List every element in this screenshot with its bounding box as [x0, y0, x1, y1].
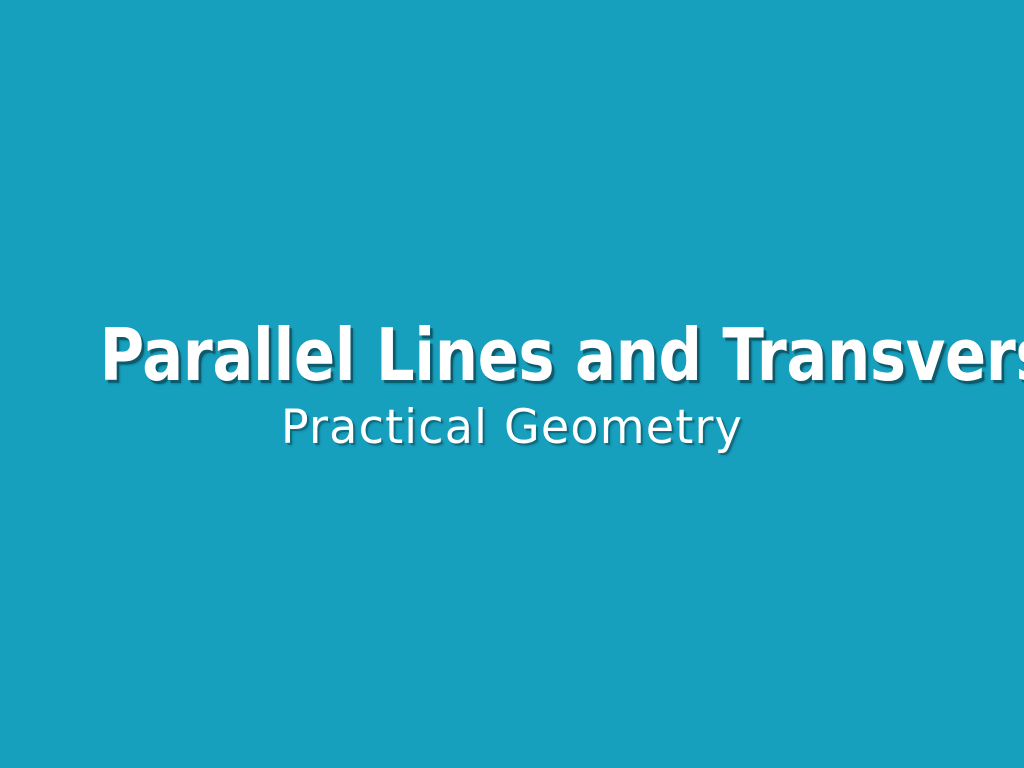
presentation-slide: Parallel Lines and Transversals Practica…	[0, 0, 1024, 768]
slide-subtitle: Practical Geometry	[34, 401, 990, 455]
title-block: Parallel Lines and Transversals Practica…	[0, 316, 1024, 455]
slide-title: Parallel Lines and Transversals	[100, 316, 925, 394]
